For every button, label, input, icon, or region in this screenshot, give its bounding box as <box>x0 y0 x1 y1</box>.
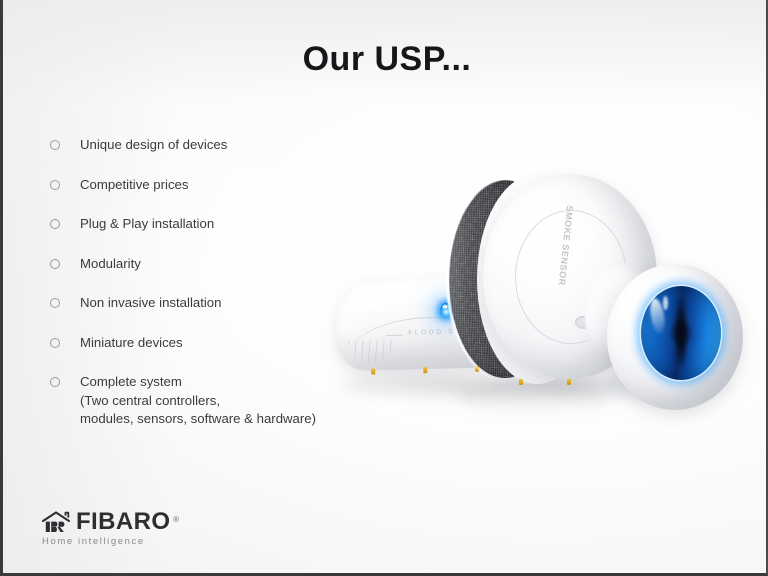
list-item-label: Unique design of devices <box>80 136 227 155</box>
list-item-label: Miniature devices <box>80 334 183 353</box>
fibaro-logo: FIBARO ® Home intelligence <box>41 511 170 547</box>
list-item: Non invasive installation <box>50 294 350 313</box>
contact-pin <box>371 368 375 374</box>
logo-tagline: Home intelligence <box>42 536 170 547</box>
house-monogram-icon <box>41 511 71 533</box>
usp-bullet-list: Unique design of devices Competitive pri… <box>50 136 350 450</box>
bullet-circle-icon <box>50 140 60 150</box>
eye-highlight-small <box>663 296 668 310</box>
page-title: Our USP... <box>3 40 768 79</box>
contact-pin <box>423 367 427 373</box>
list-item-label: Plug & Play installation <box>80 215 214 234</box>
eye-pupil <box>676 297 686 368</box>
motion-sensor-device <box>583 258 743 418</box>
bullet-circle-icon <box>50 377 60 387</box>
contact-pin <box>567 379 571 385</box>
list-item-label: Non invasive installation <box>80 294 221 313</box>
list-item-label: Complete system (Two central controllers… <box>80 373 316 429</box>
list-item: Miniature devices <box>50 334 350 353</box>
product-photo-group: FLOOD SENSOR SMOKE SENSOR <box>321 162 768 462</box>
motion-sensor-eye-lens <box>641 286 721 380</box>
list-item: Modularity <box>50 255 350 274</box>
bullet-circle-icon <box>50 338 60 348</box>
list-item-label: Competitive prices <box>80 176 188 195</box>
bullet-circle-icon <box>50 180 60 190</box>
logo-wordmark-text: FIBARO <box>76 508 170 535</box>
list-item: Plug & Play installation <box>50 215 350 234</box>
list-item: Complete system (Two central controllers… <box>50 373 350 429</box>
list-item-label: Modularity <box>80 255 141 274</box>
list-item: Competitive prices <box>50 176 350 195</box>
list-item: Unique design of devices <box>50 136 350 155</box>
logo-row: FIBARO ® <box>41 511 170 533</box>
contact-pin <box>519 379 523 385</box>
bullet-circle-icon <box>50 259 60 269</box>
bullet-circle-icon <box>50 298 60 308</box>
presentation-slide: Our USP... Unique design of devices Comp… <box>0 0 768 576</box>
bullet-circle-icon <box>50 219 60 229</box>
logo-wordmark: FIBARO ® <box>76 511 170 533</box>
registered-trademark-icon: ® <box>173 509 179 531</box>
